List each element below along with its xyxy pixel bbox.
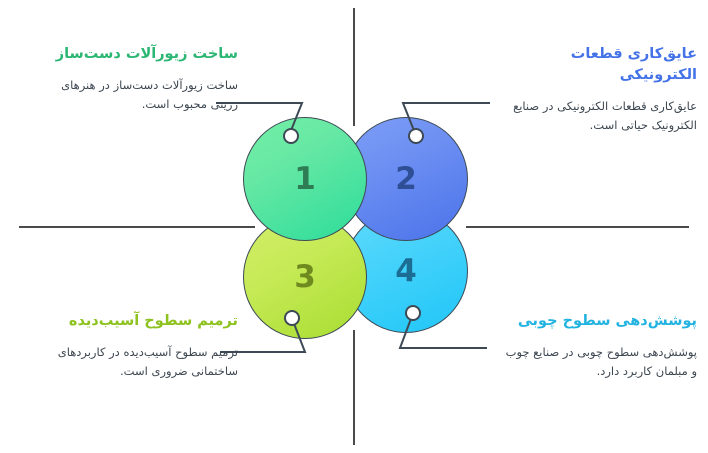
label-body-1: ساخت زیورآلات دست‌ساز در هنرهای رزینی مح… [42, 76, 238, 113]
infographic-canvas: 1 2 3 4 ساخت زیورآلات دست‌ساز ساخت زیورآ… [0, 0, 708, 453]
circle-number-3: 3 [294, 262, 316, 293]
label-title-4: پوشش‌دهی سطوح چوبی [505, 311, 697, 332]
label-block-4: پوشش‌دهی سطوح چوبی پوشش‌دهی سطوح چوبی در… [505, 311, 697, 380]
label-body-4: پوشش‌دهی سطوح چوبی در صنایع چوب و مبلمان… [505, 343, 697, 380]
divider-horizontal-right [466, 226, 689, 228]
label-title-2: عایق‌کاری قطعات الکترونیکی [505, 44, 697, 86]
label-block-1: ساخت زیورآلات دست‌ساز ساخت زیورآلات دست‌… [42, 44, 238, 113]
label-title-1: ساخت زیورآلات دست‌ساز [42, 44, 238, 65]
divider-horizontal-left [19, 226, 255, 228]
divider-vertical-top [353, 8, 355, 126]
divider-vertical-bottom [353, 330, 355, 445]
circle-number-2: 2 [395, 164, 417, 195]
circle-number-4: 4 [395, 256, 417, 287]
circle-number-1: 1 [294, 164, 316, 195]
circle-node-1[interactable]: 1 [243, 117, 367, 241]
label-block-3: ترمیم سطوح آسیب‌دیده ترمیم سطوح آسیب‌دید… [34, 311, 238, 380]
label-body-2: عایق‌کاری قطعات الکترونیکی در صنایع الکت… [505, 97, 697, 134]
label-block-2: عایق‌کاری قطعات الکترونیکی عایق‌کاری قطع… [505, 44, 697, 134]
label-body-3: ترمیم سطوح آسیب‌دیده در کاربردهای ساختما… [34, 343, 238, 380]
label-title-3: ترمیم سطوح آسیب‌دیده [34, 311, 238, 332]
